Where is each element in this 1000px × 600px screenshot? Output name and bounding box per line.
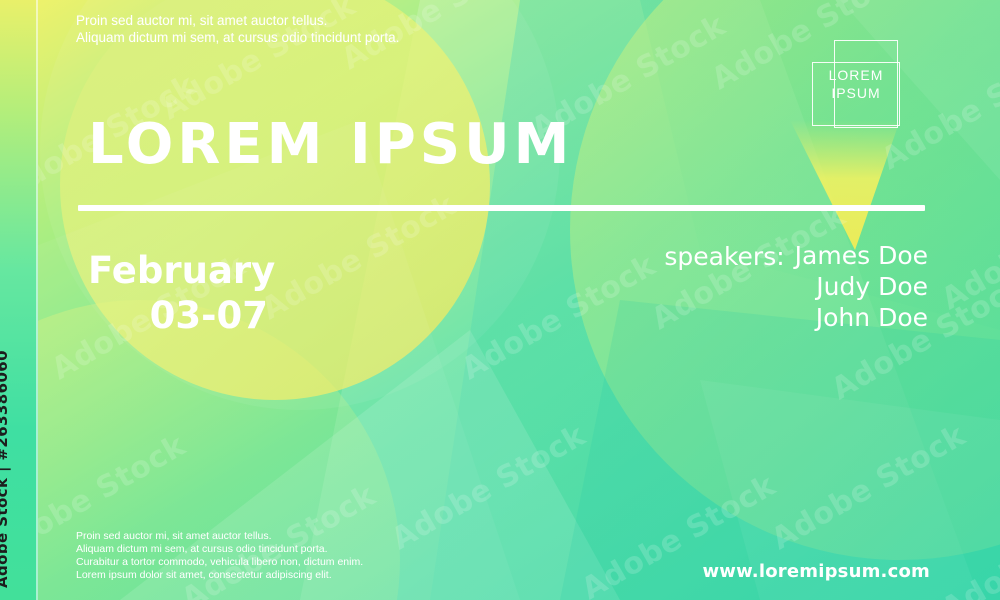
website-url: www.loremipsum.com <box>702 561 930 582</box>
logo-mark: LOREM IPSUM <box>812 40 916 144</box>
speakers-list: James Doe Judy Doe John Doe <box>795 240 928 333</box>
speaker-name: Judy Doe <box>795 271 928 302</box>
sidebar-divider <box>36 0 38 600</box>
event-date: February 03-07 <box>88 248 274 338</box>
logo-text: LOREM IPSUM <box>812 66 900 102</box>
bottom-description-line-2: Aliquam dictum mi sem, at cursus odio ti… <box>76 543 363 556</box>
bottom-description-line-1: Proin sed auctor mi, sit amet auctor tel… <box>76 530 363 543</box>
bottom-description-text: Proin sed auctor mi, sit amet auctor tel… <box>76 530 363 582</box>
page-title: LOREM IPSUM <box>88 112 573 178</box>
poster-canvas: Adobe Stock Adobe Stock Adobe Stock Adob… <box>0 0 1000 600</box>
event-month: February <box>88 248 274 293</box>
speaker-name: John Doe <box>795 302 928 333</box>
poster-content: Proin sed auctor mi, sit amet auctor tel… <box>0 0 1000 600</box>
logo-text-line-2: IPSUM <box>812 84 900 102</box>
sidebar-watermark-text: Adobe Stock | #263386060 <box>0 350 11 588</box>
top-description-line-2: Aliquam dictum mi sem, at cursus odio ti… <box>76 29 399 46</box>
speakers-block: speakers: James Doe Judy Doe John Doe <box>664 240 928 333</box>
stock-sidebar-watermark: Adobe Stock | #263386060 <box>0 0 38 600</box>
event-day-range: 03-07 <box>88 293 274 338</box>
speaker-name: James Doe <box>795 240 928 271</box>
top-description-text: Proin sed auctor mi, sit amet auctor tel… <box>76 12 399 46</box>
top-description-line-1: Proin sed auctor mi, sit amet auctor tel… <box>76 12 399 29</box>
logo-text-line-1: LOREM <box>812 66 900 84</box>
speakers-label: speakers: <box>664 240 784 272</box>
bottom-description-line-3: Curabitur a tortor commodo, vehicula lib… <box>76 556 363 569</box>
bottom-description-line-4: Lorem ipsum dolor sit amet, consectetur … <box>76 569 363 582</box>
divider-rule <box>78 205 925 211</box>
